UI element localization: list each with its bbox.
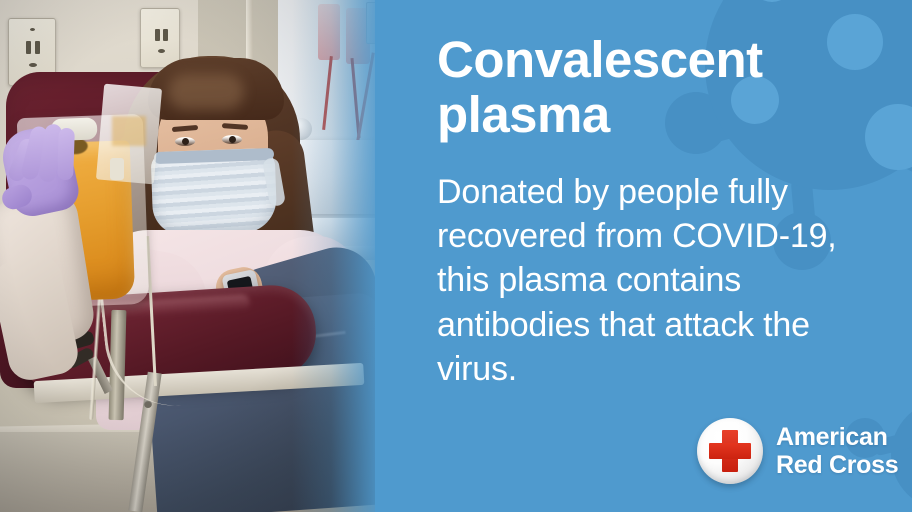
american-red-cross-logo: American Red Cross <box>697 418 898 484</box>
cross-horizontal-bar <box>709 443 751 459</box>
message-panel: Convalescent plasma Donated by people fu… <box>375 0 912 512</box>
logo-wordmark: American Red Cross <box>776 423 898 479</box>
page-title: Convalescent plasma <box>437 32 857 142</box>
red-cross-icon <box>697 418 763 484</box>
body-copy: Donated by people fully recovered from C… <box>437 170 867 391</box>
logo-line-1: American <box>776 423 898 451</box>
donor-photograph <box>0 0 385 512</box>
convalescent-plasma-poster: Convalescent plasma Donated by people fu… <box>0 0 912 512</box>
photo-blue-fade <box>292 0 385 512</box>
logo-line-2: Red Cross <box>776 451 898 479</box>
